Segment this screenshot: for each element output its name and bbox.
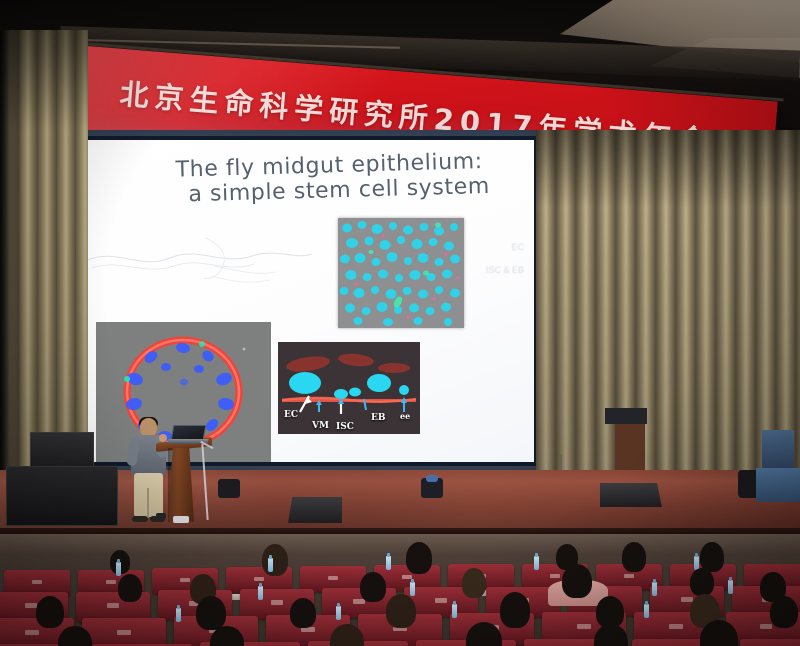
floor-monitor-center [288,497,342,523]
audience-head [36,596,64,628]
spare-podium-top-case [605,408,647,424]
slide-title: The fly midgut epithelium: a simple stem… [175,149,506,207]
stage-curtain-left [0,30,88,482]
water-bottle [176,608,181,622]
audience-head [262,544,288,576]
audience-head [770,596,798,628]
label-ec: EC [284,410,298,420]
audience-head [118,574,142,602]
audience-head [360,572,386,602]
seat [740,639,800,646]
water-bottle [534,556,539,570]
audience-head [500,592,530,628]
floor-monitor-right [600,483,662,507]
projected-slide: The fly midgut epithelium: a simple stem… [80,140,534,462]
spare-podium [615,418,645,474]
subwoofer-stack-left [6,466,118,526]
water-bottle [652,582,657,596]
audience-head [622,542,646,572]
label-eb: EB [371,413,385,423]
water-bottle [728,580,733,594]
audience-head [196,596,226,630]
micrograph-sagittal-section: EC VM ISC EB ee [278,342,420,434]
label-ee: ee [400,411,410,421]
seat [82,618,166,646]
label-isc: ISC [336,422,354,432]
water-bottle [258,586,263,600]
slide-note-isc-eb: ISC & EB [432,259,524,282]
audience-head [386,594,416,628]
fly-gut-line-drawing-icon [86,226,316,296]
stage-cable-box [173,516,189,523]
audience-head [290,598,316,628]
moving-head-light-center [421,478,443,498]
lectern [160,440,206,524]
speaker-cabinet-right-upper [762,430,794,472]
audience-head [406,542,432,574]
water-bottle [336,606,341,620]
presenter-left-shoe [132,516,148,522]
water-bottle [268,558,273,572]
presenter-leg-separation [147,488,149,518]
water-bottle [116,562,121,576]
speaker-cabinet-right-lower [756,468,800,502]
audience-seating [0,534,800,646]
water-bottle [410,582,415,596]
water-bottle [644,604,649,618]
slide-note-ec: EC [432,236,524,259]
slide-right-annotations: EC ISC & EB [432,236,524,283]
water-bottle [386,556,391,570]
auditorium-photo: 北京生命科学研究所2017年学术年会 The fly midgut epithe… [0,0,800,646]
stage-floor-device [156,513,166,519]
label-vm: VM [312,421,329,431]
water-bottle [452,604,457,618]
lectern-shadow [168,448,178,522]
audience-head [690,568,714,596]
audience-head [462,568,486,598]
moving-head-light-left [218,479,240,498]
stage-floor-reflection [0,470,800,532]
stage-curtain-right [536,130,800,482]
laptop-screen [171,425,207,440]
audience-head [562,564,592,598]
